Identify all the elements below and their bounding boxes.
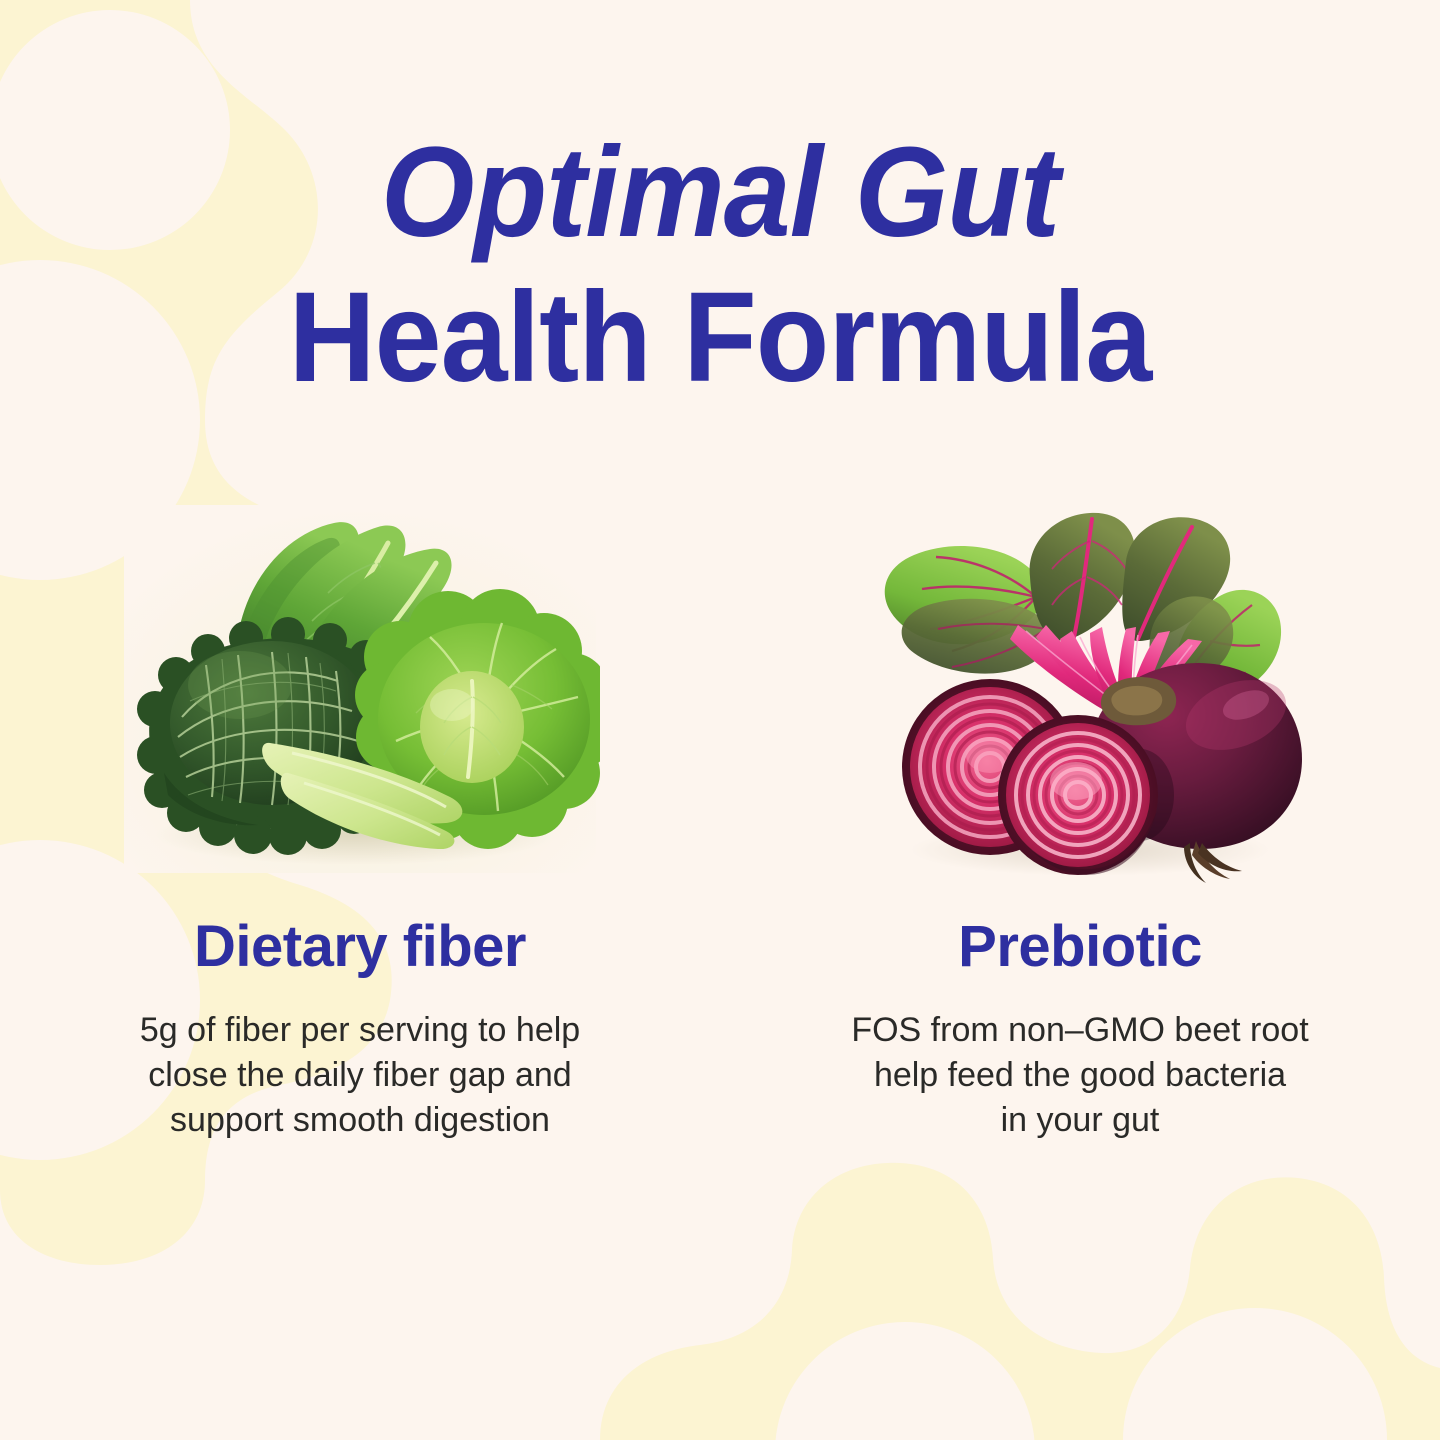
card-title-prebiotic: Prebiotic	[958, 918, 1202, 976]
poster-root: Optimal Gut Health Formula	[0, 0, 1440, 1440]
card-body-line: support smooth digestion	[140, 1098, 580, 1143]
benefit-columns: Dietary fiber 5g of fiber per serving to…	[0, 505, 1440, 1144]
card-body-line: close the daily fiber gap and	[140, 1053, 580, 1098]
cabbage-lettuce-photo	[120, 505, 600, 890]
beet-slice-front	[998, 715, 1158, 875]
page-title-line-2: Health Formula	[43, 273, 1397, 404]
card-body-prebiotic: FOS from non–GMO beet root help feed the…	[851, 1008, 1308, 1144]
benefit-card-dietary-fiber: Dietary fiber 5g of fiber per serving to…	[0, 505, 720, 1144]
benefit-card-prebiotic: Prebiotic FOS from non–GMO beet root hel…	[720, 505, 1440, 1144]
card-body-line: 5g of fiber per serving to help	[140, 1008, 580, 1053]
beetroot-illustration	[840, 505, 1320, 890]
card-body-line: in your gut	[851, 1098, 1308, 1143]
card-body-dietary-fiber: 5g of fiber per serving to help close th…	[140, 1008, 580, 1144]
page-title: Optimal Gut Health Formula	[0, 128, 1440, 403]
card-title-dietary-fiber: Dietary fiber	[194, 918, 526, 976]
card-body-line: help feed the good bacteria	[851, 1053, 1308, 1098]
beetroot-photo	[840, 505, 1320, 890]
card-body-line: FOS from non–GMO beet root	[851, 1008, 1308, 1053]
cabbage-lettuce-illustration	[120, 505, 600, 890]
page-title-line-1: Optimal Gut	[43, 128, 1397, 259]
